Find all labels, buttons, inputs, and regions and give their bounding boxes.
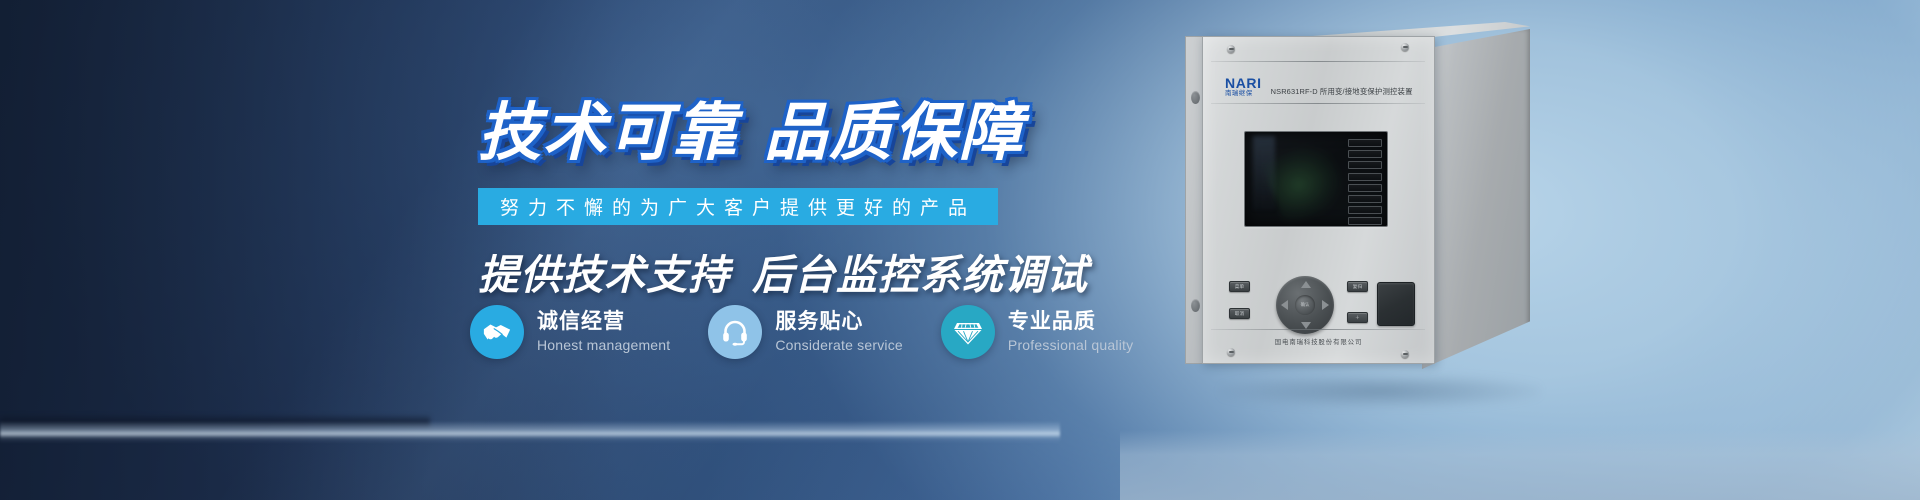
button-reset-label: 复归 — [1348, 284, 1367, 290]
headline-secondary-part2: 后台监控系统调试 — [752, 252, 1088, 298]
feature-list: 诚信经营 Honest management 服务贴心 Cons — [470, 305, 1171, 359]
mounting-hole — [1191, 299, 1200, 312]
headline-primary: 技术可靠品质保障 — [478, 82, 1024, 173]
brand-subname: 南瑞继保 — [1225, 91, 1262, 98]
tagline-ribbon: 努力不懈的为广大客户提供更好的产品 — [478, 188, 998, 225]
button-quit-label: 取消 — [1230, 311, 1249, 317]
handshake-icon-circle — [470, 305, 524, 359]
led-indicator — [1348, 217, 1382, 225]
brand-name: NARI — [1225, 76, 1262, 90]
nari-logo: NARI 南瑞继保 — [1225, 76, 1262, 98]
feature-text-block: 专业品质 Professional quality — [1008, 310, 1133, 354]
headset-icon-circle — [708, 305, 762, 359]
button-quit[interactable]: 取消 — [1229, 308, 1250, 319]
button-menu-label: 菜单 — [1230, 284, 1249, 290]
feature-label-cn: 诚信经营 — [537, 310, 670, 334]
device-brand-row: NARI 南瑞继保 NSR631RF-D 所用变/接地变保护测控装置 — [1225, 76, 1413, 98]
product-image-relay-device: NARI 南瑞继保 NSR631RF-D 所用变/接地变保护测控装置 — [1185, 22, 1605, 442]
led-indicator-column — [1348, 139, 1382, 227]
arrow-up-icon[interactable] — [1301, 281, 1311, 288]
device-communication-port[interactable] — [1377, 282, 1415, 326]
headset-icon — [721, 318, 749, 346]
panel-screw — [1227, 45, 1235, 53]
button-plus-label: ＋ — [1348, 315, 1367, 321]
device-control-panel: 菜单 取消 确认 复归 ＋ — [1229, 274, 1414, 336]
headline-primary-part2: 品质保障 — [764, 98, 1024, 168]
device-lcd-screen[interactable] — [1244, 131, 1388, 227]
feature-label-cn: 专业品质 — [1008, 310, 1133, 334]
feature-item-professional-quality[interactable]: 专业品质 Professional quality — [941, 305, 1133, 359]
led-indicator — [1348, 184, 1382, 192]
device-drop-shadow — [1220, 374, 1540, 408]
mounting-hole — [1191, 91, 1200, 104]
feature-label-cn: 服务贴心 — [775, 310, 903, 334]
feature-item-honest-management[interactable]: 诚信经营 Honest management — [470, 305, 670, 359]
feature-text-block: 诚信经营 Honest management — [537, 310, 670, 354]
feature-label-en: Honest management — [537, 337, 670, 355]
diamond-icon-circle — [941, 305, 995, 359]
arrow-left-icon[interactable] — [1281, 300, 1288, 310]
feature-label-en: Professional quality — [1008, 337, 1133, 355]
headline-secondary: 提供技术支持后台监控系统调试 — [478, 241, 1088, 301]
led-indicator — [1348, 161, 1382, 169]
device-front-panel: NARI 南瑞继保 NSR631RF-D 所用变/接地变保护测控装置 — [1202, 36, 1435, 364]
device-side-panel — [1422, 29, 1530, 369]
promo-banner: 技术可靠品质保障 努力不懈的为广大客户提供更好的产品 提供技术支持后台监控系统调… — [0, 0, 1920, 500]
handshake-icon — [482, 320, 512, 344]
button-menu[interactable]: 菜单 — [1229, 281, 1250, 292]
dpad-control[interactable]: 确认 — [1276, 276, 1334, 334]
device-model-label: NSR631RF-D 所用变/接地变保护测控装置 — [1271, 86, 1413, 97]
feature-item-considerate-service[interactable]: 服务贴心 Considerate service — [708, 305, 903, 359]
panel-divider-top — [1211, 61, 1425, 62]
button-plus[interactable]: ＋ — [1347, 312, 1368, 323]
diamond-icon — [953, 318, 983, 346]
led-indicator — [1348, 206, 1382, 214]
arrow-right-icon[interactable] — [1322, 300, 1329, 310]
led-indicator — [1348, 150, 1382, 158]
panel-screw — [1401, 43, 1409, 51]
panel-divider-under-brand — [1211, 103, 1425, 104]
led-indicator — [1348, 173, 1382, 181]
panel-screw — [1401, 350, 1409, 358]
tagline-text: 努力不懈的为广大客户提供更好的产品 — [500, 193, 976, 220]
panel-screw — [1227, 348, 1235, 356]
feature-label-en: Considerate service — [775, 337, 903, 355]
panel-divider-bottom — [1211, 329, 1425, 330]
led-indicator — [1348, 195, 1382, 203]
feature-text-block: 服务贴心 Considerate service — [775, 310, 903, 354]
headline-secondary-part1: 提供技术支持 — [478, 252, 730, 298]
banner-copy: 技术可靠品质保障 努力不懈的为广大客户提供更好的产品 提供技术支持后台监控系统调… — [0, 0, 1140, 500]
device-manufacturer-label: 国电南瑞科技股份有限公司 — [1203, 337, 1434, 346]
arrow-down-icon[interactable] — [1301, 322, 1311, 329]
button-reset[interactable]: 复归 — [1347, 281, 1368, 292]
headline-primary-part1: 技术可靠 — [478, 98, 738, 168]
dpad-confirm-button[interactable]: 确认 — [1295, 295, 1315, 315]
led-indicator — [1348, 139, 1382, 147]
